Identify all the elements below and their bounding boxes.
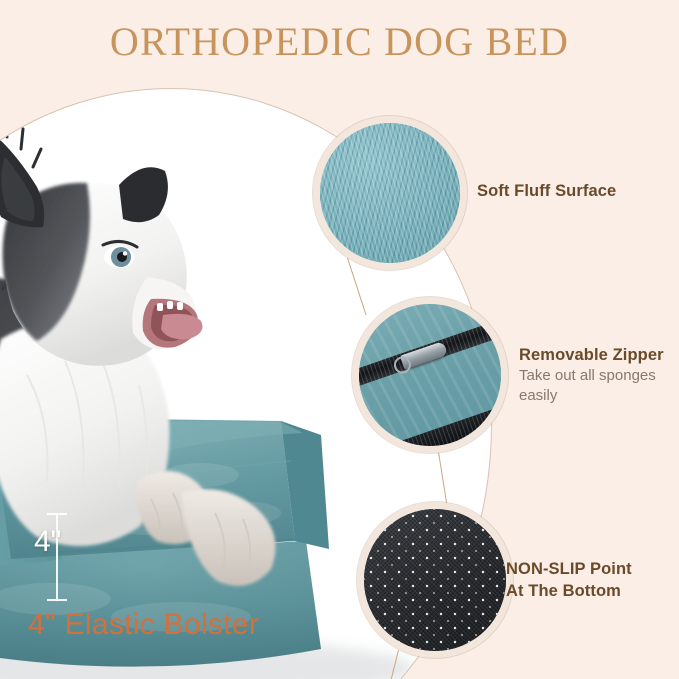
fluff-texture-swatch — [313, 116, 467, 270]
nonslip-swatch-inner — [364, 509, 506, 651]
infographic-page: ORTHOPEDIC DOG BED — [0, 0, 679, 679]
feature-heading-zipper: Removable Zipper — [519, 344, 679, 366]
feature-heading-fluff: Soft Fluff Surface — [477, 180, 616, 202]
feature-label-zipper: Removable Zipper Take out all sponges ea… — [519, 344, 679, 406]
feature-heading-nonslip: NON-SLIP Point — [506, 558, 632, 580]
page-title: ORTHOPEDIC DOG BED — [0, 18, 679, 65]
nonslip-dots-swatch — [357, 502, 513, 658]
nonslip-dot-texture — [364, 509, 506, 651]
fluff-swatch-inner — [320, 123, 460, 263]
bolster-height-value: 4" — [34, 527, 61, 557]
bolster-caption: 4" Elastic Bolster — [28, 608, 259, 642]
feature-heading-nonslip-line2: At The Bottom — [506, 580, 632, 602]
feature-label-fluff: Soft Fluff Surface — [477, 180, 616, 202]
zipper-closeup-swatch — [352, 297, 508, 453]
feature-label-nonslip: NON-SLIP Point At The Bottom — [506, 558, 632, 603]
zipper-swatch-inner — [359, 304, 501, 446]
feature-subtext-zipper: Take out all sponges easily — [519, 366, 679, 406]
fluff-texture-fill — [320, 123, 460, 263]
